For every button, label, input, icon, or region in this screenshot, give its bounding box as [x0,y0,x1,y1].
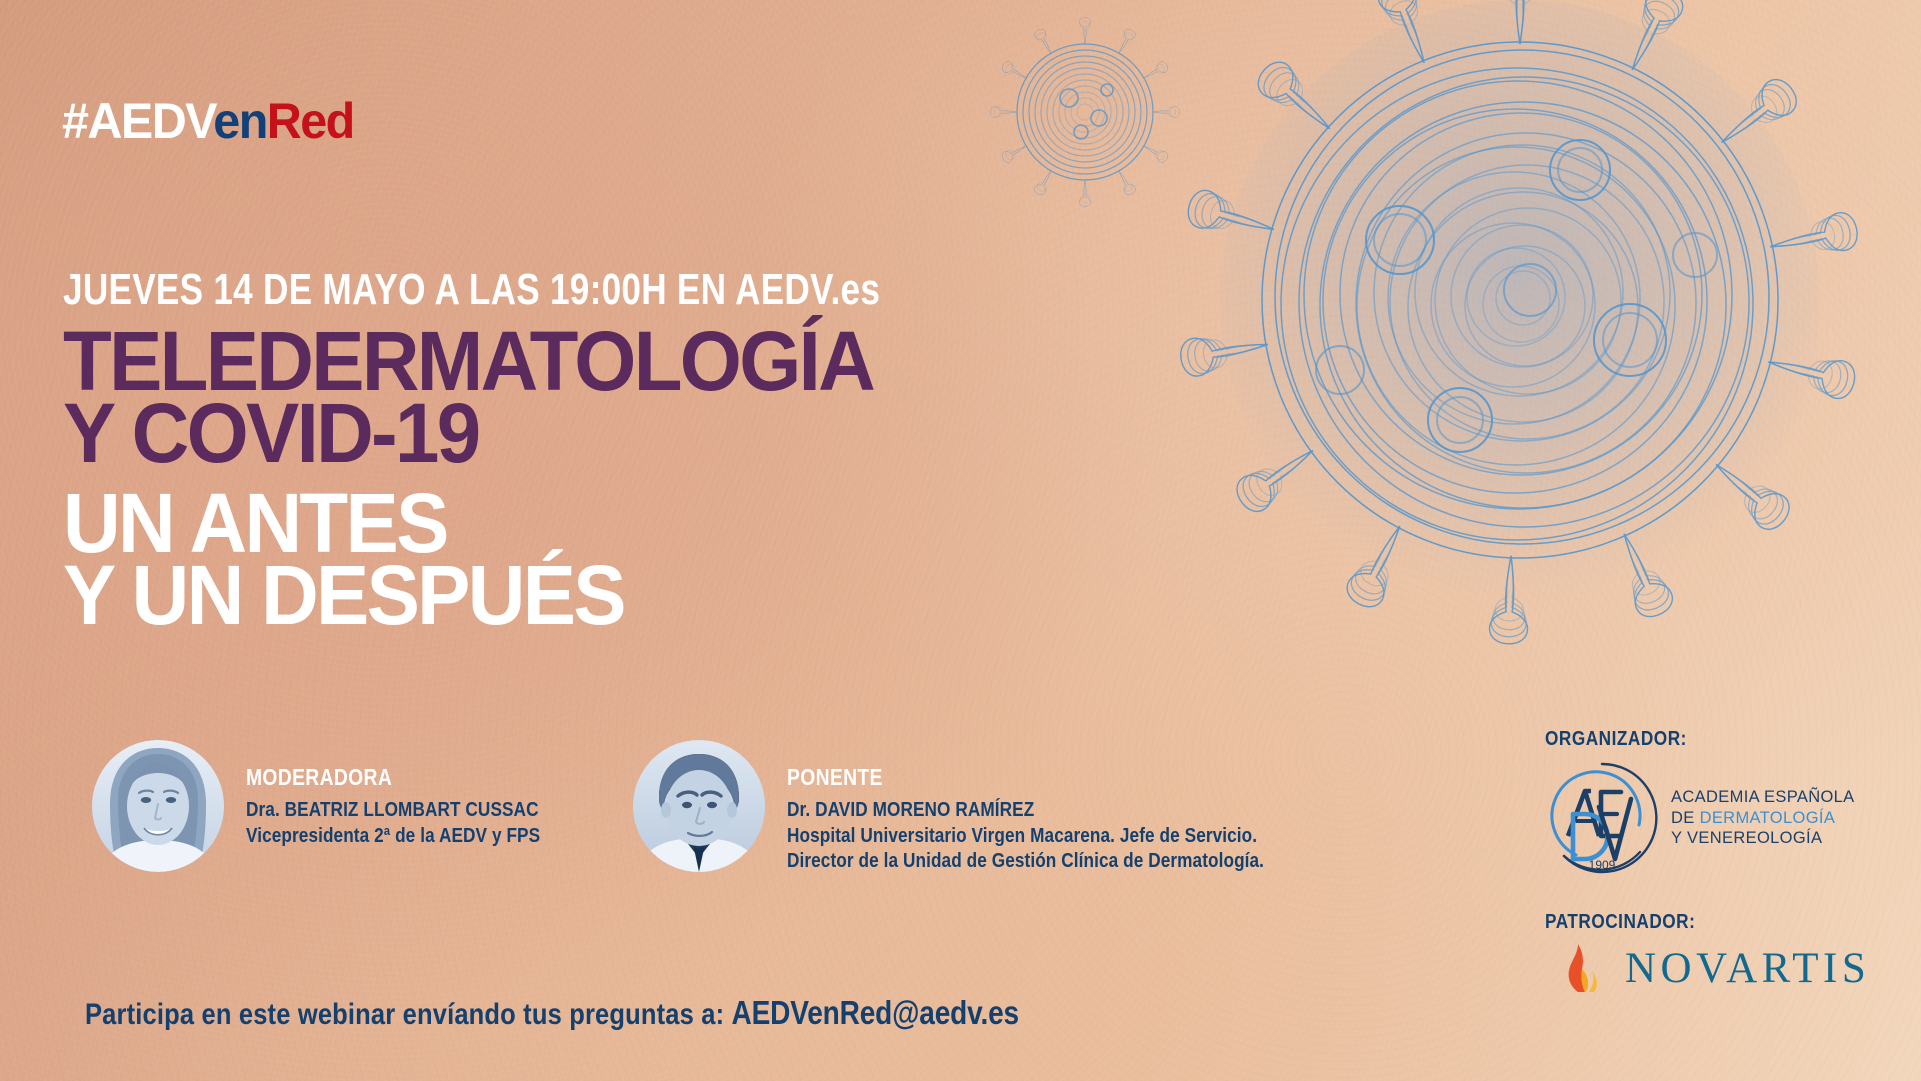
person-affiliation-1: Hospital Universitario Virgen Macarena. … [787,824,1264,850]
ponente-portrait [633,740,765,872]
avatar [633,740,765,872]
person-role: PONENTE [787,766,1253,789]
hashtag-logo: #AEDVenRed [62,96,354,146]
person-affiliation: Vicepresidenta 2ª de la AEDV y FPS [246,824,540,850]
virus-small [991,18,1180,207]
organizer-label: ORGANIZADOR: [1545,728,1861,751]
sponsor-label: PATROCINADOR: [1545,911,1861,934]
person-moderadora: MODERADORA Dra. BEATRIZ LLOMBART CUSSAC … [92,740,588,872]
aedv-year: 1909 [1589,858,1616,872]
participation-cta: Participa en este webinar envíando tus p… [85,994,1019,1032]
aedv-word-line-1: ACADEMIA ESPAÑOLA [1671,787,1855,808]
aedv-word-line-2: DE DERMATOLOGÍA [1671,808,1855,829]
person-text: PONENTE Dr. DAVID MORENO RAMÍREZ Hospita… [787,740,1342,875]
headline-block: JUEVES 14 DE MAYO A LAS 19:00H EN AEDV.e… [63,268,1084,634]
novartis-logo: NOVARTIS [1561,940,1913,996]
event-date-line: JUEVES 14 DE MAYO A LAS 19:00H EN AEDV.e… [63,268,880,312]
person-text: MODERADORA Dra. BEATRIZ LLOMBART CUSSAC … [246,740,588,849]
hashtag-red: Red [267,93,354,149]
avatar [92,740,224,872]
aedv-wordmark: ACADEMIA ESPAÑOLA DE DERMATOLOGÍA Y VENE… [1671,787,1855,849]
logo-column: ORGANIZADOR: 1909 [1543,728,1913,996]
person-name: Dr. DAVID MORENO RAMÍREZ [787,798,1264,824]
aedv-word-line-3: Y VENEREOLOGÍA [1671,828,1855,849]
title-line-y-un-despues: Y UN DESPUÉS [63,556,1033,634]
cta-email[interactable]: AEDVenRed@aedv.es [732,994,1019,1031]
aedv-word-dermatologia: DERMATOLOGÍA [1700,809,1836,827]
title-line-covid: Y COVID-19 [63,394,1033,472]
person-name: Dra. BEATRIZ LLOMBART CUSSAC [246,798,540,824]
hashtag-en: en [213,93,267,149]
hashtag-aedv: #AEDV [62,93,213,149]
aedv-logo: 1909 ACADEMIA ESPAÑOLA DE DERMATOLOGÍA Y… [1543,759,1913,877]
poster-canvas: #AEDVenRed JUEVES 14 DE MAYO A LAS 19:00… [0,0,1921,1081]
person-affiliation-2: Director de la Unidad de Gestión Clínica… [787,849,1264,875]
virus-large [1178,0,1861,644]
novartis-wordmark: NOVARTIS [1625,947,1870,990]
moderadora-portrait [92,740,224,872]
novartis-flame-icon [1561,940,1611,996]
aedv-monogram-icon: 1909 [1543,759,1661,877]
cta-prefix: Participa en este webinar envíando tus p… [85,998,724,1031]
aedv-word-de: DE [1671,809,1700,827]
person-ponente: PONENTE Dr. DAVID MORENO RAMÍREZ Hospita… [633,740,1342,875]
person-role: MODERADORA [246,766,533,789]
